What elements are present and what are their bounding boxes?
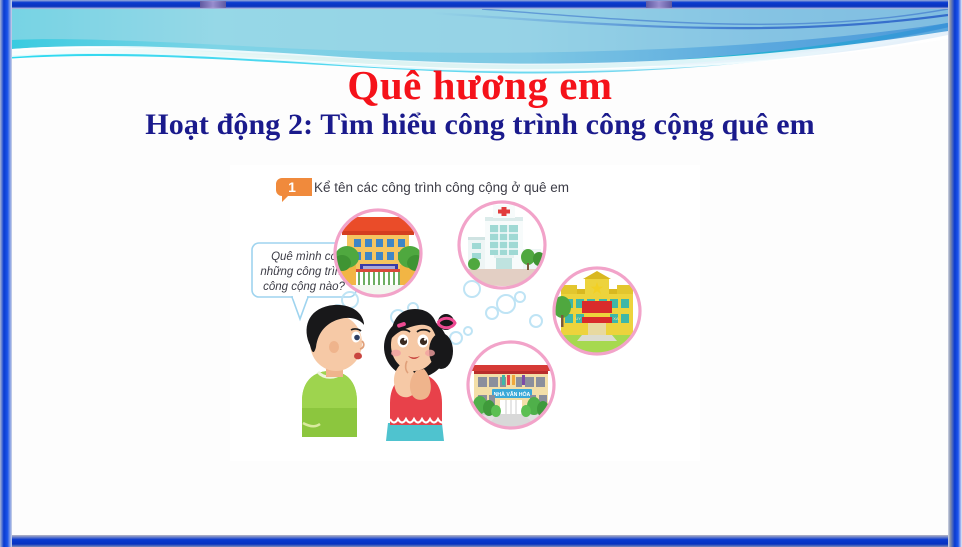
slide-border-top — [0, 0, 962, 9]
slide-border-left — [0, 0, 12, 547]
textbook-illustration: 1 Kể tên các công trình công cộng ở quê … — [230, 165, 700, 461]
border-accent-tick-left — [200, 1, 226, 8]
border-accent-tick-right — [646, 1, 672, 8]
page-title: Quê hương em — [12, 65, 948, 107]
exercise-heading-text: Kể tên các công trình công cộng ở quê em — [314, 180, 569, 195]
svg-text:công cộng nào?: công cộng nào? — [263, 281, 345, 293]
slide-canvas: Quê hương em Hoạt động 2: Tìm hiểu công … — [12, 9, 948, 535]
svg-text:1: 1 — [288, 179, 296, 195]
presentation-slide: Quê hương em Hoạt động 2: Tìm hiểu công … — [0, 0, 962, 547]
title-block: Quê hương em Hoạt động 2: Tìm hiểu công … — [12, 65, 948, 140]
page-subtitle: Hoạt động 2: Tìm hiểu công trình công cộ… — [12, 109, 948, 141]
svg-text:NHÀ VĂN HÓA: NHÀ VĂN HÓA — [494, 390, 531, 398]
slide-border-right — [948, 0, 962, 547]
svg-text:những công trình: những công trình — [260, 266, 347, 278]
picture-hospital — [456, 202, 548, 288]
svg-text:Quê mình có: Quê mình có — [271, 251, 337, 263]
slide-border-bottom — [0, 535, 962, 547]
